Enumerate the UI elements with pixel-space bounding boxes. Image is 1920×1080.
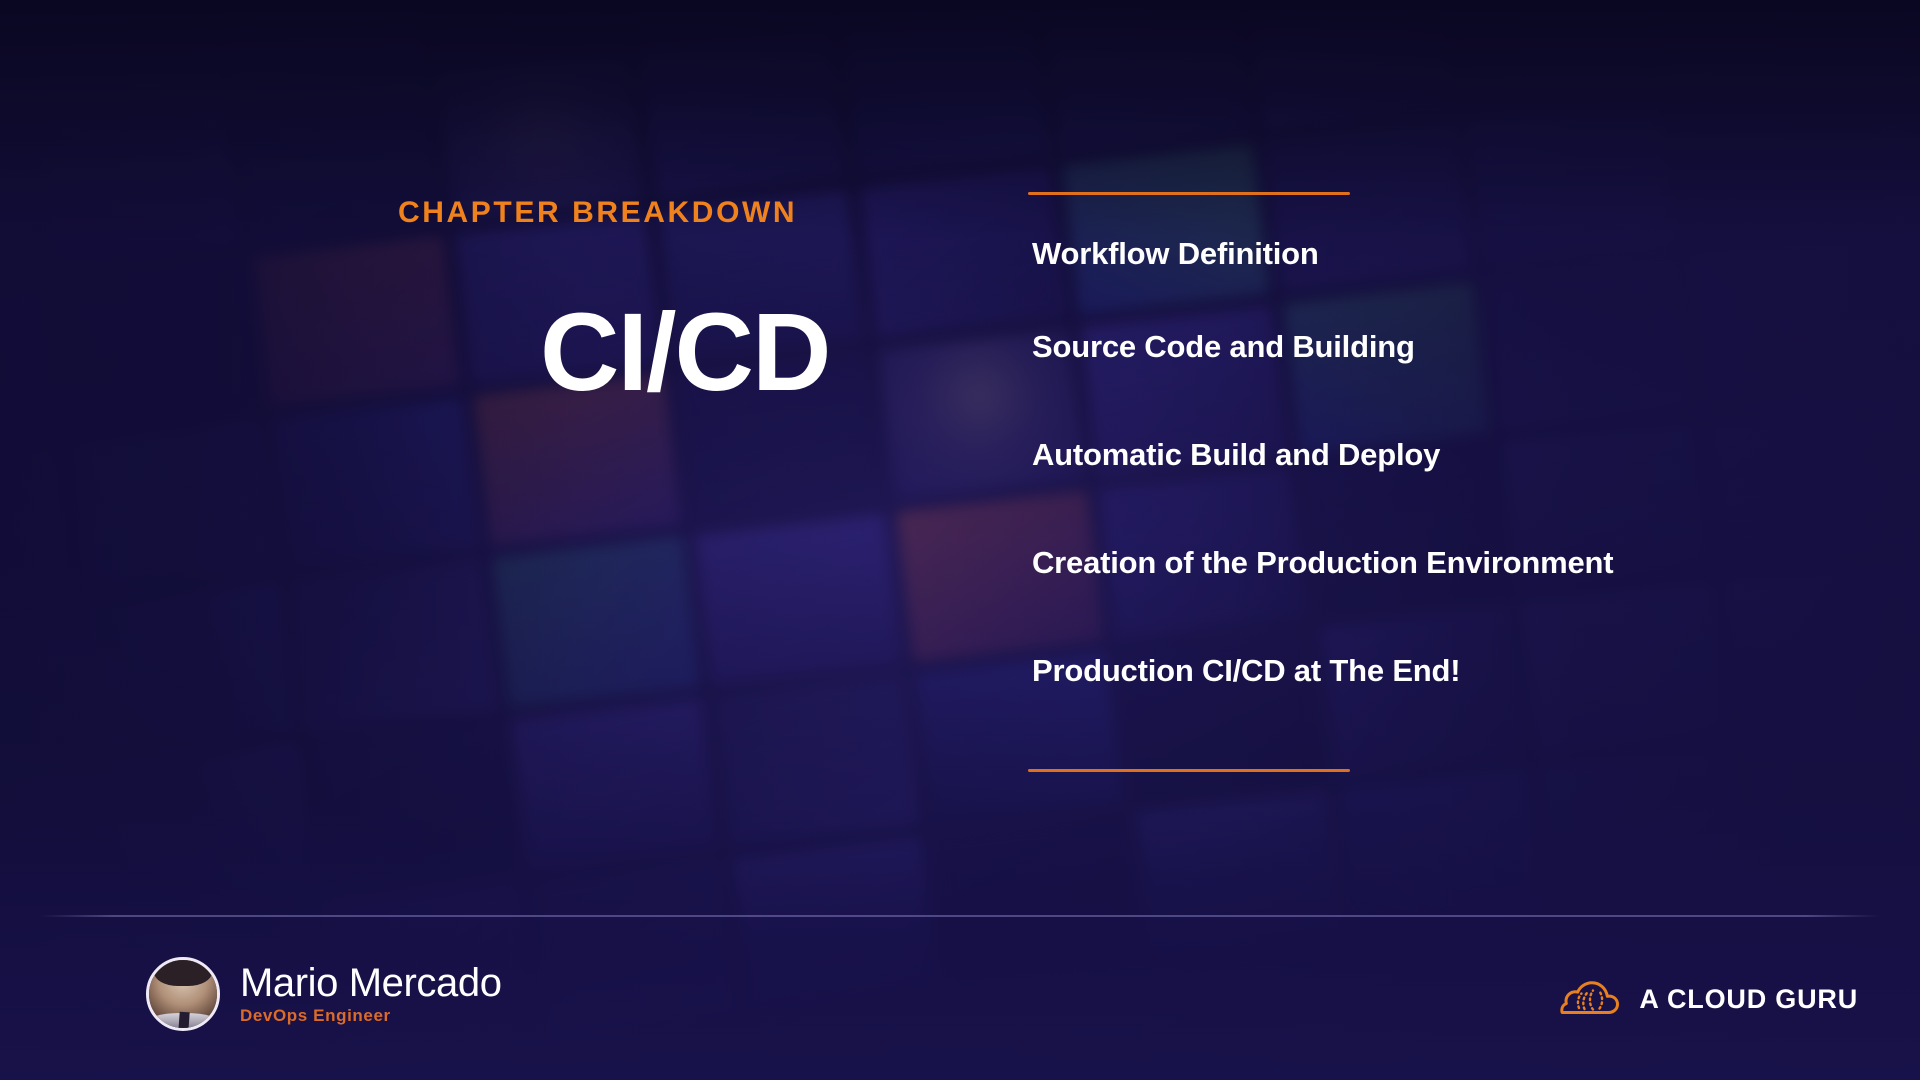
avatar	[146, 957, 220, 1031]
list-item: Source Code and Building	[1032, 331, 1852, 362]
list-item: Production CI/CD at The End!	[1032, 655, 1852, 686]
chapter-breakdown-kicker: CHAPTER BREAKDOWN	[398, 196, 797, 230]
list-item: Automatic Build and Deploy	[1032, 439, 1852, 470]
breakdown-list: Workflow Definition Source Code and Buil…	[1032, 238, 1852, 686]
cloud-icon	[1559, 975, 1621, 1024]
footer-divider	[40, 915, 1880, 917]
list-top-rule	[1028, 192, 1350, 195]
page-title: CI/CD	[540, 298, 829, 408]
list-item: Creation of the Production Environment	[1032, 547, 1852, 578]
presenter-name: Mario Mercado	[240, 962, 502, 1004]
presenter-role: DevOps Engineer	[240, 1006, 502, 1026]
brand-name: A CLOUD GURU	[1639, 984, 1858, 1015]
presentation-slide: CHAPTER BREAKDOWN CI/CD Workflow Definit…	[0, 0, 1920, 1080]
list-item: Workflow Definition	[1032, 238, 1852, 269]
brand-logo: A CLOUD GURU	[1559, 975, 1858, 1024]
list-bottom-rule	[1028, 769, 1350, 772]
presenter-block: Mario Mercado DevOps Engineer	[146, 957, 502, 1031]
